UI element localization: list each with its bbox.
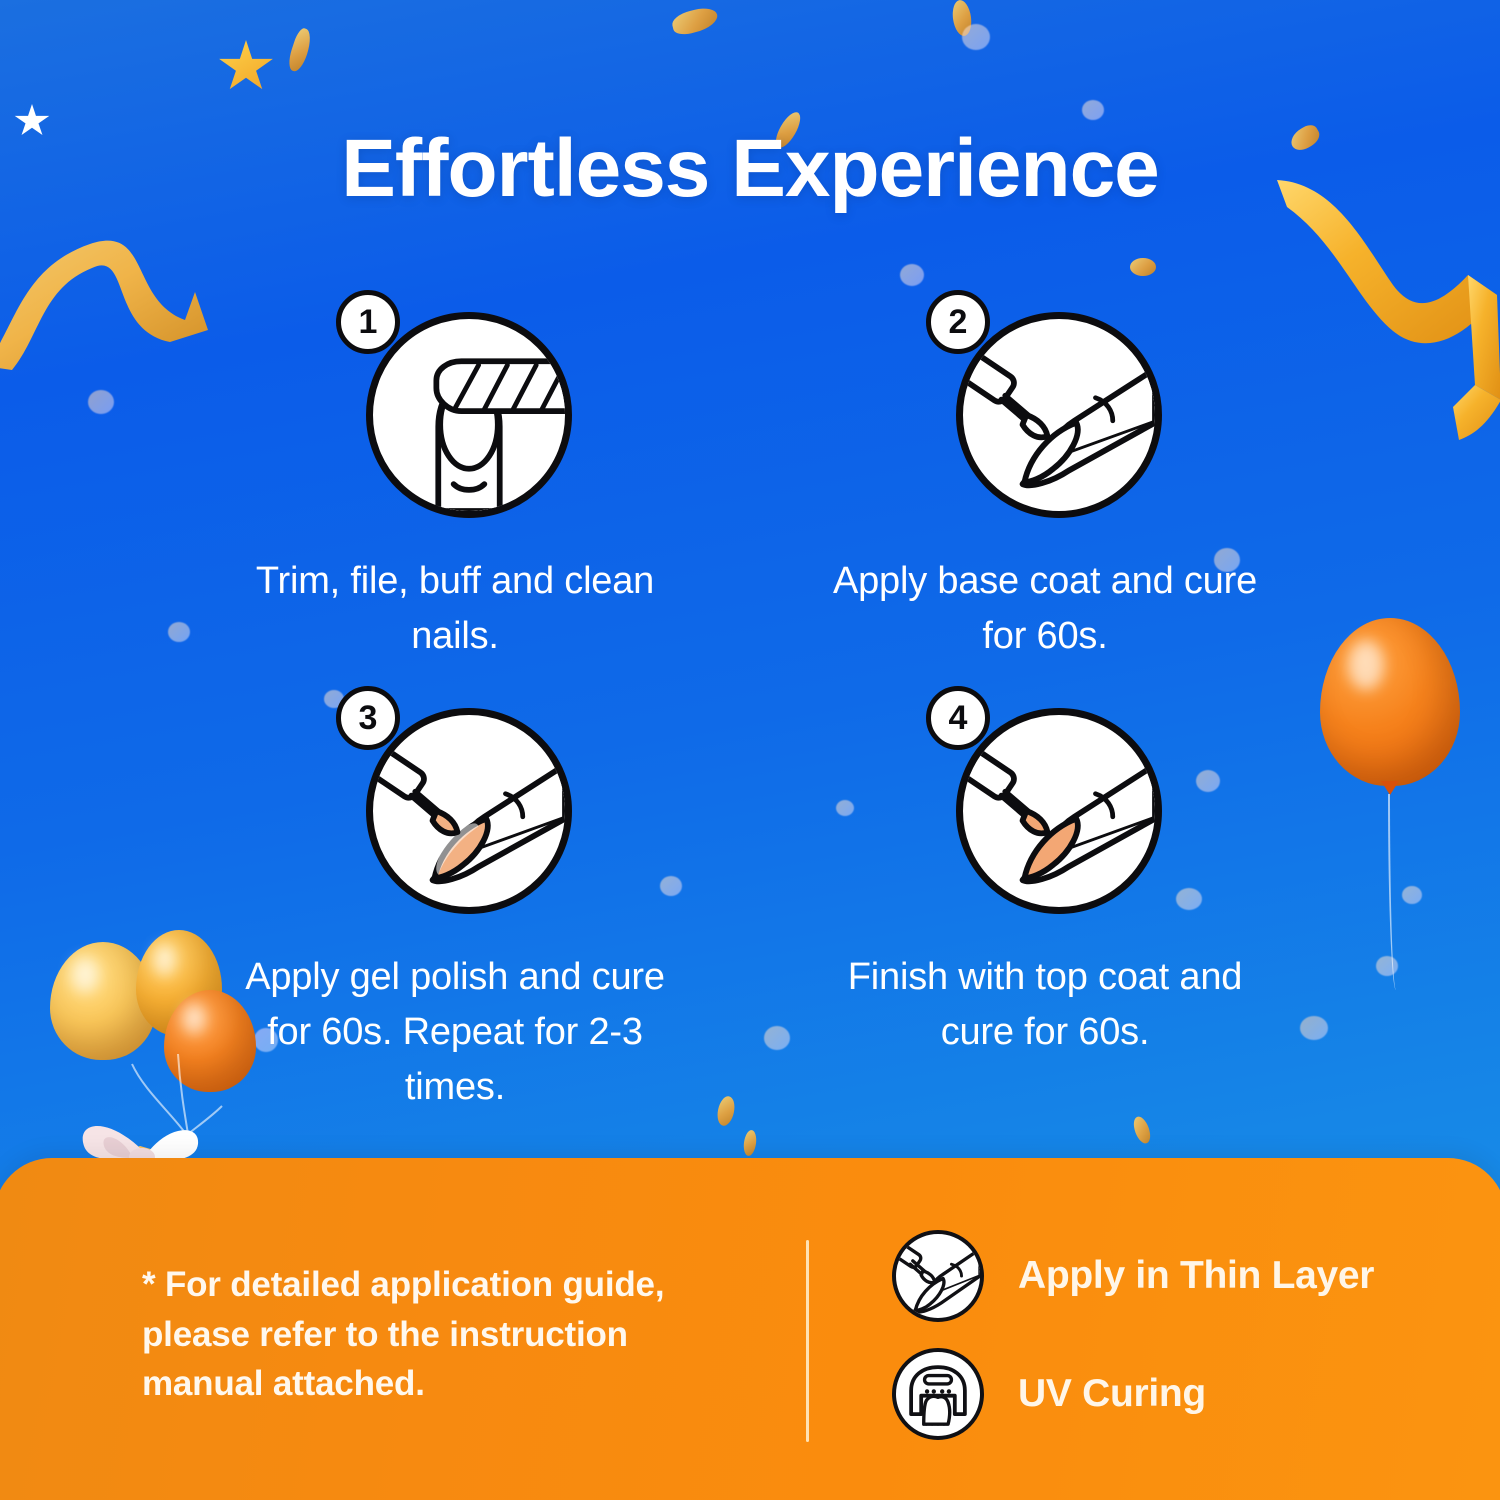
panel-divider <box>806 1240 809 1442</box>
feature-label-uv-curing: UV Curing <box>1018 1372 1206 1416</box>
step-3: 3 Apply gel polish and cure for 60s. Rep… <box>200 686 710 1115</box>
brush-gel-polish-icon <box>366 708 572 914</box>
confetti-gold-4 <box>951 0 974 37</box>
confetti-dot-1 <box>88 390 114 414</box>
step-4-icon-wrap: 4 <box>920 686 1170 936</box>
infographic-canvas: Effortless Experience <box>0 0 1500 1500</box>
step-3-badge: 3 <box>336 686 400 750</box>
page-title: Effortless Experience <box>0 128 1500 210</box>
confetti-gold-9 <box>1131 1114 1154 1145</box>
step-2-icon-wrap: 2 <box>920 290 1170 540</box>
confetti-gold-8 <box>742 1129 758 1156</box>
step-2: 2 Apply base coat and cure for 60s. <box>790 290 1300 664</box>
step-1-badge: 1 <box>336 290 400 354</box>
orange-balloon <box>1320 618 1460 786</box>
step-4: 4 Finish with top coat and cure for 60s. <box>790 686 1300 1115</box>
step-1-caption: Trim, file, buff and clean nails. <box>235 554 675 664</box>
step-4-caption: Finish with top coat and cure for 60s. <box>825 950 1265 1060</box>
confetti-dot-2 <box>168 622 190 642</box>
brush-top-coat-icon <box>956 708 1162 914</box>
confetti-dot-5 <box>1082 100 1104 120</box>
step-1-icon-wrap: 1 <box>330 290 580 540</box>
step-2-badge: 2 <box>926 290 990 354</box>
confetti-gold-5 <box>1130 258 1156 276</box>
feature-uv-curing: UV Curing <box>892 1348 1374 1440</box>
balloon-knot <box>1381 781 1399 795</box>
nail-file-icon <box>366 312 572 518</box>
step-2-caption: Apply base coat and cure for 60s. <box>825 554 1265 664</box>
feature-label-thin-layer: Apply in Thin Layer <box>1018 1254 1374 1298</box>
steps-grid: 1 Trim, file, buff and clean nails. <box>200 290 1300 1115</box>
bottom-panel: * For detailed application guide, please… <box>0 1158 1500 1500</box>
balloon-string <box>1388 794 1404 990</box>
confetti-dot-4 <box>962 24 990 50</box>
confetti-dot-9 <box>1300 1016 1328 1040</box>
step-4-badge: 4 <box>926 686 990 750</box>
confetti-dot-16 <box>1402 886 1422 904</box>
footnote-text: * For detailed application guide, please… <box>142 1260 752 1409</box>
confetti-dot-3 <box>900 264 924 286</box>
gold-star-icon <box>218 40 274 94</box>
step-3-caption: Apply gel polish and cure for 60s. Repea… <box>235 950 675 1115</box>
feature-apply-thin-layer: Apply in Thin Layer <box>892 1230 1374 1322</box>
step-1: 1 Trim, file, buff and clean nails. <box>200 290 710 664</box>
confetti-gold-2 <box>670 5 720 37</box>
confetti-gold-1 <box>286 27 315 74</box>
uv-lamp-icon <box>892 1348 984 1440</box>
step-3-icon-wrap: 3 <box>330 686 580 936</box>
brush-nail-icon <box>892 1230 984 1322</box>
brush-base-coat-icon <box>956 312 1162 518</box>
feature-list: Apply in Thin Layer <box>892 1230 1374 1440</box>
